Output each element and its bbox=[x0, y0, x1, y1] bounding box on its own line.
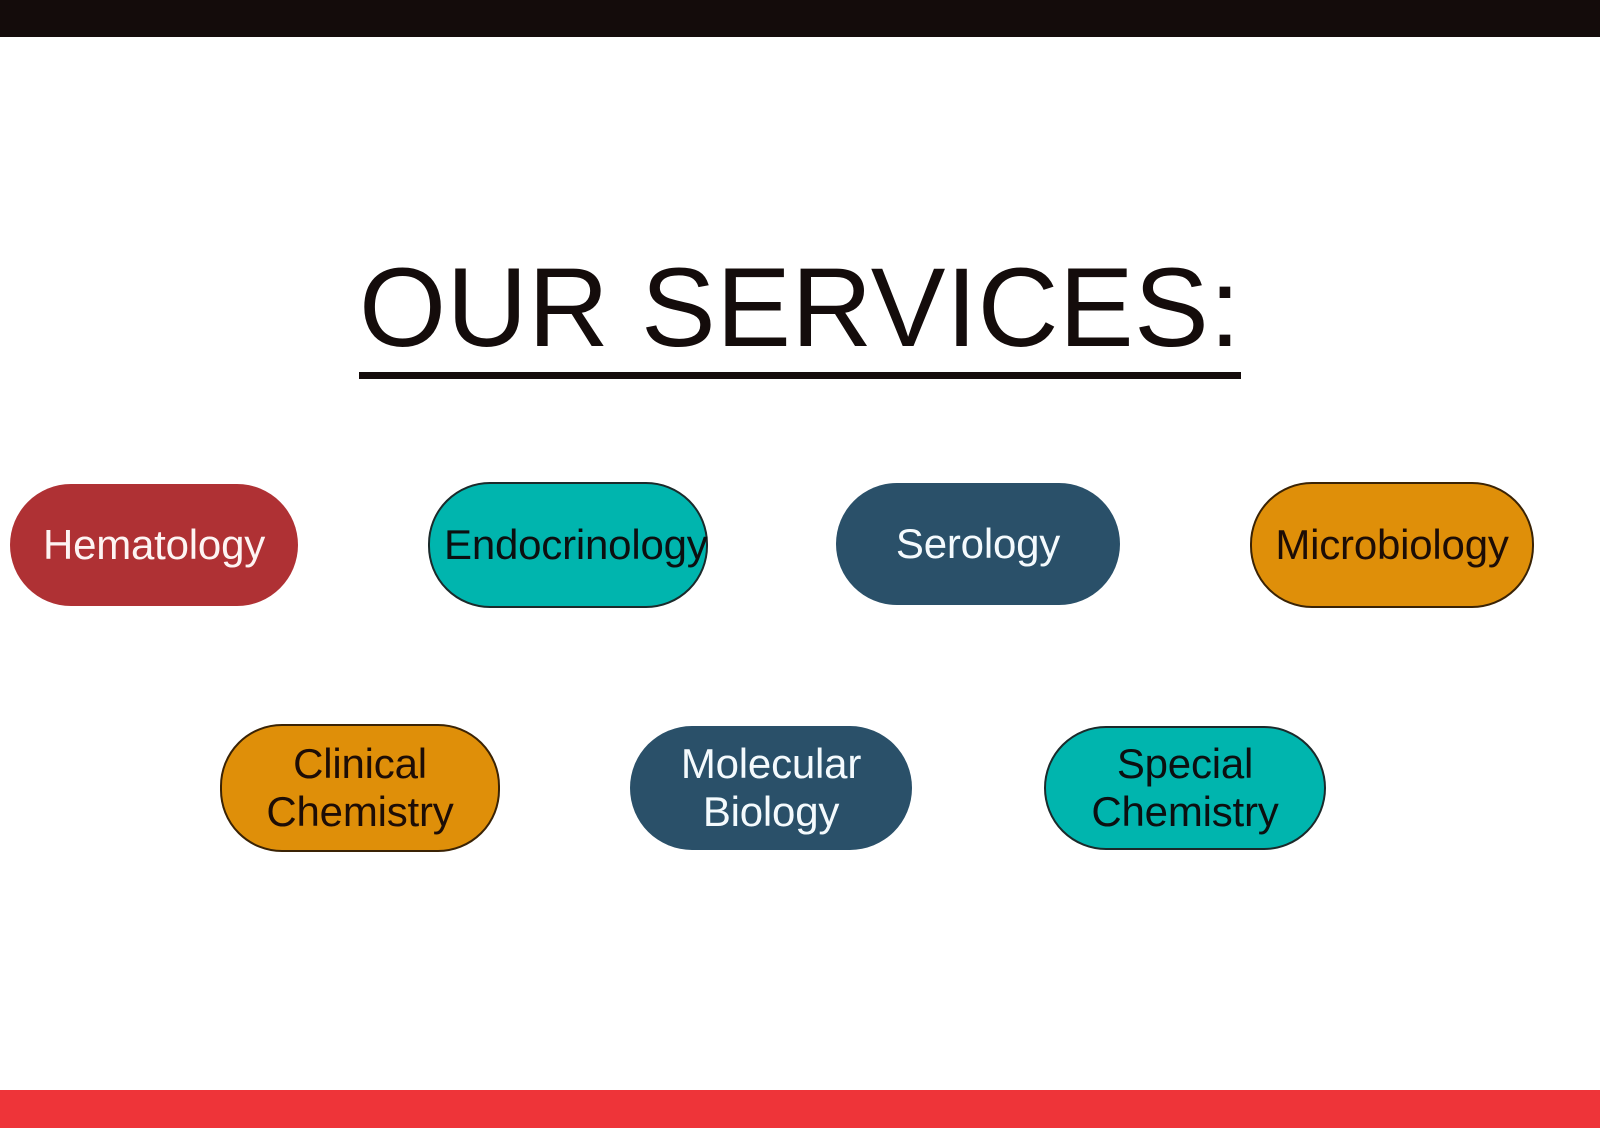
service-pill-microbiology[interactable]: Microbiology bbox=[1250, 482, 1534, 608]
service-label-endocrinology: Endocrinology bbox=[444, 521, 692, 569]
top-decorative-bar bbox=[0, 0, 1600, 37]
service-pill-serology[interactable]: Serology bbox=[836, 483, 1120, 605]
service-label-hematology: Hematology bbox=[24, 521, 284, 569]
service-pill-clinical-chemistry[interactable]: Clinical Chemistry bbox=[220, 724, 500, 852]
service-pill-hematology[interactable]: Hematology bbox=[10, 484, 298, 606]
service-label-special-chemistry: Special Chemistry bbox=[1060, 740, 1310, 837]
service-pill-endocrinology[interactable]: Endocrinology bbox=[428, 482, 708, 608]
page-title: OUR SERVICES: bbox=[359, 252, 1241, 379]
service-label-clinical-chemistry: Clinical Chemistry bbox=[236, 740, 484, 837]
bottom-decorative-bar bbox=[0, 1090, 1600, 1128]
service-pill-molecular-biology[interactable]: Molecular Biology bbox=[630, 726, 912, 850]
service-pill-special-chemistry[interactable]: Special Chemistry bbox=[1044, 726, 1326, 850]
service-label-microbiology: Microbiology bbox=[1266, 521, 1518, 569]
page-title-container: OUR SERVICES: bbox=[0, 252, 1600, 379]
slide-canvas: OUR SERVICES: Hematology Endocrinology S… bbox=[0, 0, 1600, 1128]
service-label-serology: Serology bbox=[850, 520, 1106, 568]
service-label-molecular-biology: Molecular Biology bbox=[644, 740, 898, 837]
